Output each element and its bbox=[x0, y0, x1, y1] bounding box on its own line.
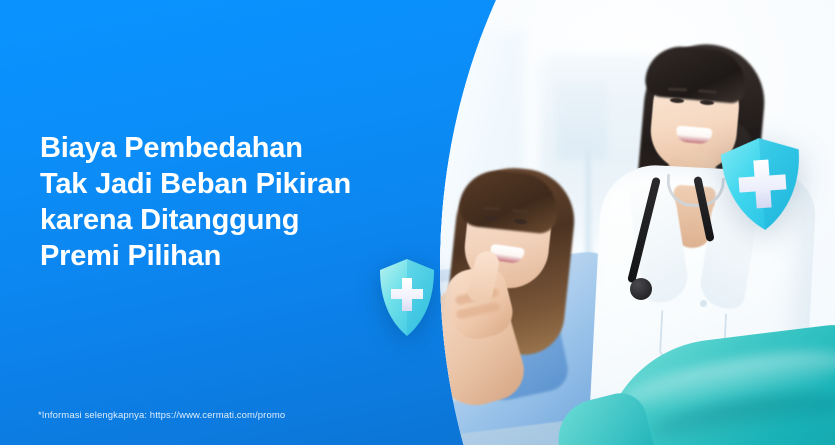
shield-cross-icon bbox=[717, 133, 807, 235]
doctor-coat-button-1 bbox=[700, 300, 707, 307]
page-title: Biaya Pembedahan Tak Jadi Beban Pikiran … bbox=[40, 130, 410, 274]
doctor-eyebrow-left bbox=[668, 88, 687, 92]
iv-bag-blur bbox=[556, 82, 608, 160]
promo-banner: Biaya Pembedahan Tak Jadi Beban Pikiran … bbox=[0, 0, 835, 445]
shield-badge-right bbox=[717, 133, 807, 235]
footnote-text: *Informasi selengkapnya: https://www.cer… bbox=[38, 410, 285, 421]
stethoscope-chestpiece bbox=[630, 278, 652, 300]
